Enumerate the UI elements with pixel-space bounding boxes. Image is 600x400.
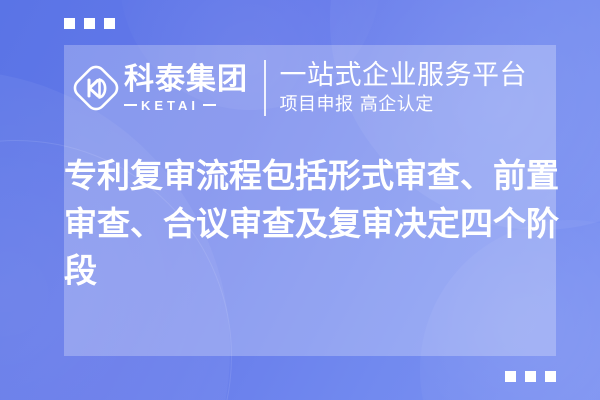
- decorative-squares-top-left: [64, 18, 115, 29]
- square-icon: [545, 371, 556, 382]
- tagline-main: 一站式企业服务平台: [280, 61, 528, 91]
- brand-name-en-text: KETAI: [141, 99, 199, 112]
- logo-rule-right: [203, 104, 216, 107]
- promo-banner: 科泰集团 KETAI 一站式企业服务平台 项目申报 高企认定 专利复审流程包括形…: [0, 0, 600, 400]
- square-icon: [104, 18, 115, 29]
- brand-name-en: KETAI: [124, 99, 248, 112]
- brand-header: 科泰集团 KETAI 一站式企业服务平台 项目申报 高企认定: [64, 45, 556, 131]
- brand-name-cn: 科泰集团: [124, 65, 248, 95]
- tagline-sub: 项目申报 高企认定: [280, 95, 528, 116]
- decorative-squares-bottom-right: [505, 371, 556, 382]
- brand-tagline: 一站式企业服务平台 项目申报 高企认定: [280, 61, 528, 115]
- square-icon: [84, 18, 95, 29]
- brand-logo[interactable]: 科泰集团 KETAI: [72, 64, 248, 112]
- square-icon: [525, 371, 536, 382]
- ketai-diamond-kd-monogram-icon: [72, 64, 120, 112]
- header-divider: [264, 60, 266, 116]
- logo-rule-left: [124, 104, 137, 107]
- square-icon: [505, 371, 516, 382]
- page-title: 专利复审流程包括形式审查、前置审查、合议审查及复审决定四个阶段: [64, 152, 564, 295]
- square-icon: [64, 18, 75, 29]
